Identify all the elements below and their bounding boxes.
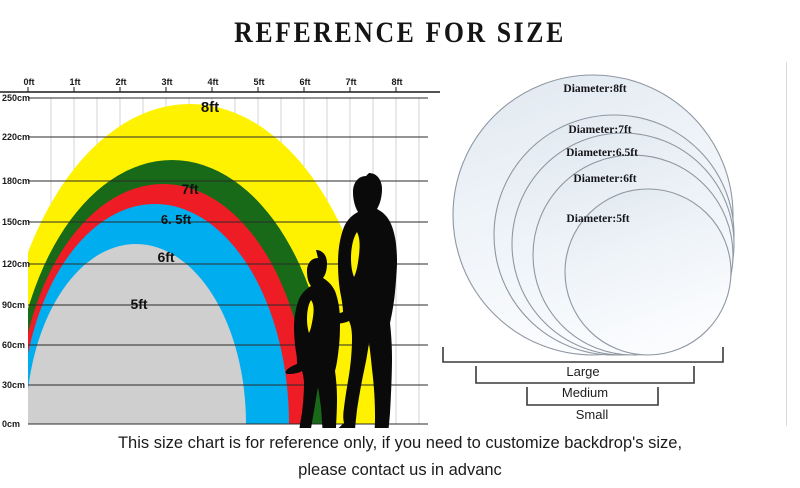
x-tick-label: 6ft	[300, 77, 311, 87]
x-tick-label: 1ft	[70, 77, 81, 87]
caption-text: This size chart is for reference only, i…	[30, 430, 770, 484]
y-tick-label: 60cm	[2, 340, 25, 350]
frame-divider	[786, 62, 787, 426]
y-axis-labels: 250cm 220cm 180cm 150cm 120cm 90cm 60cm …	[2, 93, 30, 428]
x-tick-label: 3ft	[162, 77, 173, 87]
disc-label-7ft: 7ft	[181, 181, 198, 197]
circle-label-7ft: Diameter:7ft	[568, 124, 631, 136]
x-tick-label: 5ft	[254, 77, 265, 87]
x-tick-label: 2ft	[116, 77, 127, 87]
circle-label-8ft: Diameter:8ft	[563, 83, 626, 95]
x-axis-ticks	[28, 87, 396, 92]
disc-size-diagram: Diameter:8ft Diameter:7ft Diameter:6.5ft…	[430, 60, 800, 430]
bracket-label-large: Large	[566, 364, 599, 379]
y-tick-label: 180cm	[2, 176, 30, 186]
bracket-label-small: Small	[576, 407, 609, 422]
caption-line-2: please contact us in advanc	[30, 457, 770, 484]
circle-label-6ft: Diameter:6ft	[573, 173, 636, 185]
x-tick-label: 4ft	[208, 77, 219, 87]
disc-label-5ft: 5ft	[130, 296, 147, 312]
disc-label-8ft: 8ft	[201, 99, 219, 116]
caption-line-1: This size chart is for reference only, i…	[30, 430, 770, 457]
y-tick-label: 90cm	[2, 300, 25, 310]
x-tick-label: 8ft	[392, 77, 403, 87]
y-tick-label: 0cm	[2, 419, 20, 428]
disc-label-6ft: 6ft	[157, 249, 174, 265]
bracket-label-medium: Medium	[562, 385, 608, 400]
x-axis-labels: 0ft 1ft 2ft 3ft 4ft 5ft 6ft 7ft 8ft	[24, 77, 403, 87]
size-reference-chart: REFERENCE FOR SIZE	[0, 0, 800, 488]
circle-label-6_5ft: Diameter:6.5ft	[566, 147, 638, 159]
y-tick-label: 250cm	[2, 93, 30, 103]
height-comparison-chart: 0ft 1ft 2ft 3ft 4ft 5ft 6ft 7ft 8ft 250c…	[0, 72, 440, 428]
x-tick-label: 7ft	[346, 77, 357, 87]
y-tick-label: 30cm	[2, 380, 25, 390]
page-title: REFERENCE FOR SIZE	[56, 16, 744, 50]
y-tick-label: 120cm	[2, 259, 30, 269]
x-tick-label: 0ft	[24, 77, 35, 87]
circle-label-5ft: Diameter:5ft	[566, 213, 629, 225]
y-tick-label: 150cm	[2, 217, 30, 227]
y-tick-label: 220cm	[2, 132, 30, 142]
disc-label-6_5ft: 6. 5ft	[161, 212, 192, 227]
